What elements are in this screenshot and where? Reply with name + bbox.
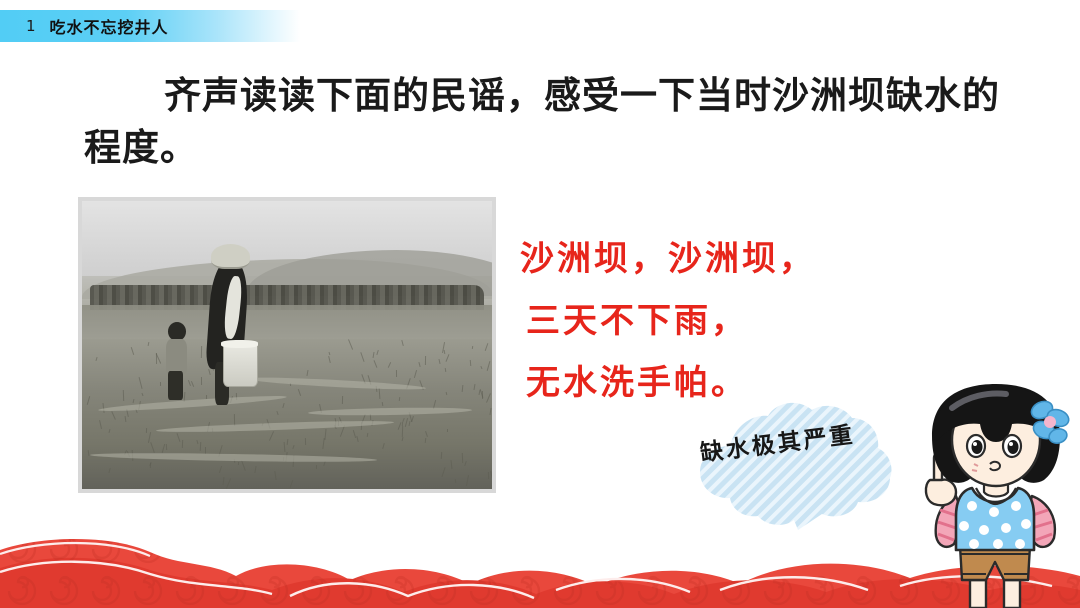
photo-grass-blade xyxy=(132,399,134,403)
photo-grass-blade xyxy=(324,429,326,440)
photo-bucket-rim xyxy=(221,340,258,347)
photo-grass-blade xyxy=(201,346,202,358)
photo-grass-blade xyxy=(441,452,442,459)
photo-grass-blade xyxy=(445,368,447,372)
girl-legs xyxy=(970,580,1020,608)
photo-grass-blade xyxy=(283,403,285,408)
photo-grass-blade xyxy=(469,360,470,366)
speech-bubble: 缺水极其严重 xyxy=(672,398,922,530)
photo-grass-blade xyxy=(366,433,368,437)
photo-grass-blade xyxy=(138,378,142,389)
photo-grass-blade xyxy=(399,397,401,401)
photo-grass-blade xyxy=(472,345,473,348)
photo-grass-blade xyxy=(287,439,289,445)
photo-grass-blade xyxy=(182,440,183,448)
photo-grass-blade xyxy=(150,442,155,452)
photo-grass-blade xyxy=(443,350,445,354)
photo-grass-blade xyxy=(402,418,405,422)
photo-grass-blade xyxy=(99,420,102,429)
photo-grass-blade xyxy=(450,460,452,469)
photo-grass-blade xyxy=(402,437,404,441)
photo-grass-blade xyxy=(131,347,134,355)
photo-grass-blade xyxy=(488,472,489,479)
photo-grass-blade xyxy=(405,418,408,427)
lesson-title: 吃水不忘挖井人 xyxy=(50,14,169,38)
photo-grass-blade xyxy=(206,395,207,399)
photo-grass-blade xyxy=(191,381,194,387)
photo-grass-blade xyxy=(328,356,331,363)
photo-grass-blade xyxy=(284,442,286,452)
photo-grass-blade xyxy=(465,475,468,486)
photo-grass-blade xyxy=(402,426,403,437)
photo-grass-blade xyxy=(425,356,426,365)
verse-line-1: 沙洲坝，沙洲坝， xyxy=(520,228,940,290)
photo-child-head xyxy=(168,322,186,341)
photo-water-bucket xyxy=(223,342,258,387)
photo-grass-blade xyxy=(446,392,448,396)
photo-grass-blade xyxy=(150,462,152,466)
photo-grass-blade xyxy=(374,360,378,368)
photo-grass-blade xyxy=(425,431,428,437)
prompt-text: 齐声读读下面的民谣，感受一下当时沙洲坝缺水的程度。 xyxy=(84,74,1000,169)
slide-canvas: 1 吃水不忘挖井人 齐声读读下面的民谣，感受一下当时沙洲坝缺水的程度。 xyxy=(0,0,1080,608)
photo-grass-blade xyxy=(307,370,309,376)
photo-grass-blade xyxy=(241,461,246,472)
photo-child-body xyxy=(166,339,187,374)
photo-grass-blade xyxy=(208,369,211,375)
cartoon-girl-character xyxy=(912,384,1080,608)
photo-grass-blade xyxy=(485,343,489,351)
photo-grass-blade xyxy=(111,411,115,419)
photo-child-leg xyxy=(168,371,183,400)
photo-grass-blade xyxy=(276,411,278,415)
photo-image xyxy=(82,201,492,489)
photo-grass-blade xyxy=(414,370,417,378)
photo-adult-hat xyxy=(211,244,250,269)
photo-grass-blade xyxy=(274,471,276,480)
photo-grass-blade xyxy=(356,436,358,442)
photo-grass-blade xyxy=(298,389,301,396)
photo-grass-blade xyxy=(480,366,482,369)
photo-grass-blade xyxy=(255,466,257,473)
photo-grass-blade xyxy=(360,352,364,362)
photo-grass-blade xyxy=(382,402,384,406)
photo-grass-blade xyxy=(489,408,491,415)
photo-grass-blade xyxy=(201,377,202,385)
photo-grass-blade xyxy=(342,396,343,404)
photo-grass-blade xyxy=(146,428,147,433)
photo-grass-blade xyxy=(108,468,110,474)
photo-grass-blade xyxy=(269,432,274,442)
photo-grass-blade xyxy=(441,467,445,477)
photo-grass-blade xyxy=(382,443,385,449)
photo-grass-blade xyxy=(197,440,199,445)
photo-grass-blade xyxy=(490,471,492,479)
photo-grass-blade xyxy=(464,461,467,466)
photo-grass-blade xyxy=(461,453,462,463)
photo-grass-blade xyxy=(348,340,353,350)
photo-grass-blade xyxy=(124,416,126,422)
photo-grass-blade xyxy=(87,396,90,405)
photo-grass-blade xyxy=(205,447,206,454)
photo-grass-blade xyxy=(176,433,180,442)
photo-grass-blade xyxy=(109,428,111,432)
photo-grass-blade xyxy=(418,362,420,367)
photo-grass-blade xyxy=(473,384,475,390)
photo-grass-blade xyxy=(461,385,463,392)
photo-grass-blade xyxy=(305,438,306,445)
photo-grass-blade xyxy=(323,461,326,466)
photo-grass-blade xyxy=(454,479,456,483)
header: 1 吃水不忘挖井人 xyxy=(0,10,420,42)
photo-grass-blade xyxy=(411,416,414,422)
photo-grass-blade xyxy=(123,390,124,401)
photo-grass-blade xyxy=(88,450,90,456)
photo-grass-blade xyxy=(376,350,379,356)
photo-grass-blade xyxy=(329,352,331,356)
photo-grass-blade xyxy=(96,357,98,361)
photo-grass-blade xyxy=(238,462,239,465)
photo-grass-blade xyxy=(290,480,293,488)
photo-grass-blade xyxy=(486,361,490,371)
lesson-number: 1 xyxy=(26,17,36,35)
photo-grass-blade xyxy=(199,442,201,451)
photo-grass-blade xyxy=(292,445,294,449)
photo-grass-blade xyxy=(316,465,317,469)
photo-grass-blade xyxy=(219,466,222,473)
photo-grass-blade xyxy=(148,342,150,346)
photo-grass-blade xyxy=(388,362,391,368)
photo-grass-blade xyxy=(439,359,441,364)
photo-grass-blade xyxy=(223,477,225,485)
folk-song-verse: 沙洲坝，沙洲坝， 三天不下雨， 无水洗手帕。 xyxy=(520,228,940,414)
photo-grass-blade xyxy=(378,388,380,399)
photo-frame xyxy=(78,197,496,493)
photo-grass-blade xyxy=(447,429,448,432)
photo-grass-blade xyxy=(322,438,324,449)
photo-grass-blade xyxy=(142,392,144,395)
photo-ground xyxy=(82,339,492,489)
prompt-paragraph: 齐声读读下面的民谣，感受一下当时沙洲坝缺水的程度。 xyxy=(84,70,1004,174)
photo-grass-blade xyxy=(166,444,167,450)
verse-line-2: 三天不下雨， xyxy=(520,290,940,352)
photo-grass-blade xyxy=(160,382,161,386)
photo-grass-blade xyxy=(395,370,396,377)
photo-grass-blade xyxy=(424,438,425,443)
photo-grass-blade xyxy=(373,352,375,358)
photo-grass-blade xyxy=(401,339,403,345)
photo-grass-blade xyxy=(226,479,231,489)
photo-grass-blade xyxy=(486,394,491,403)
photo-grass-blade xyxy=(446,354,450,362)
